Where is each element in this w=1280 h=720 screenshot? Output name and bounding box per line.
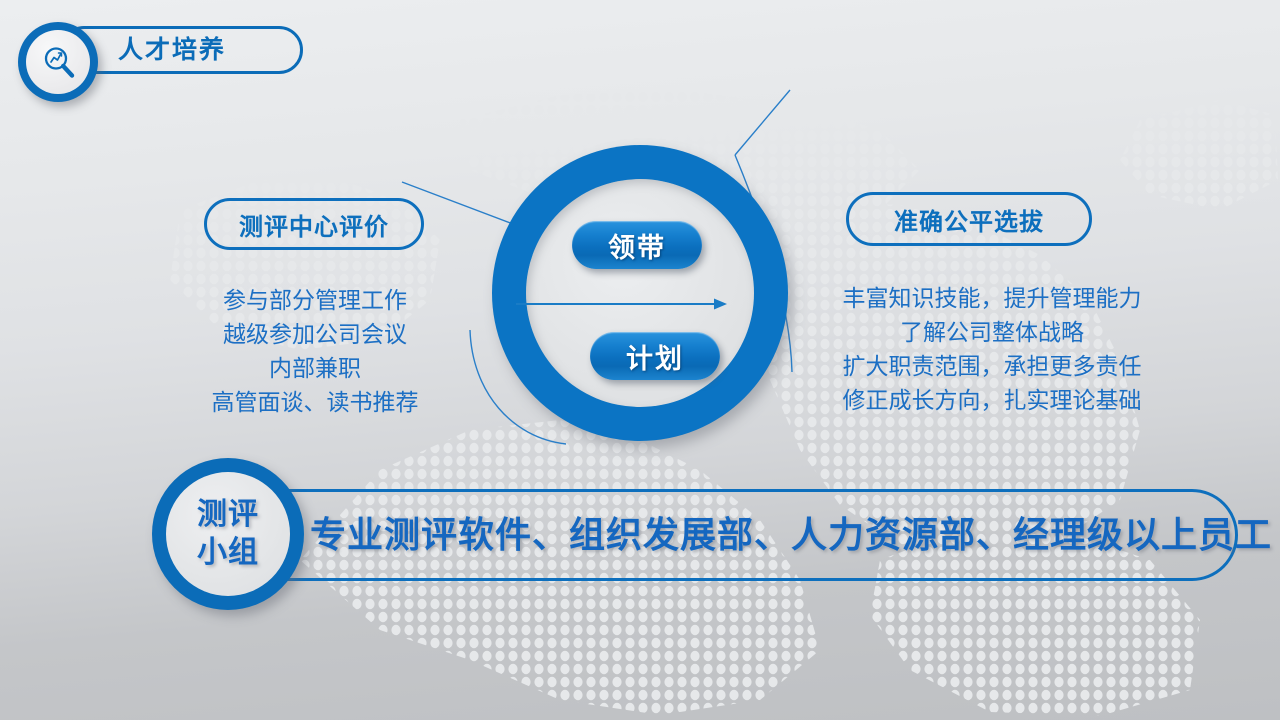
right-arrow-icon	[516, 296, 728, 312]
evaluation-group-line1: 测评	[197, 496, 259, 534]
bottom-bar-text: 专业测评软件、组织发展部、人力资源部、经理级以上员工	[310, 508, 1200, 562]
center-pill-tie[interactable]: 领带	[572, 221, 702, 269]
left-branch-line: 越级参加公司会议	[170, 317, 460, 351]
evaluation-group-circle-inner: 测评 小组	[166, 472, 290, 596]
right-branch-label[interactable]: 准确公平选拔	[846, 192, 1092, 246]
center-pill-plan[interactable]: 计划	[590, 332, 720, 380]
left-branch-line: 高管面谈、读书推荐	[170, 385, 460, 419]
left-branch-text: 参与部分管理工作 越级参加公司会议 内部兼职 高管面谈、读书推荐	[170, 283, 460, 419]
page-title: 人才培养	[118, 36, 298, 64]
header-badge: 人才培养	[18, 22, 303, 78]
header-icon-circle-inner	[26, 30, 90, 94]
right-branch-text: 丰富知识技能，提升管理能力 了解公司整体战略 扩大职责范围，承担更多责任 修正成…	[822, 281, 1162, 417]
right-branch-line: 丰富知识技能，提升管理能力	[822, 281, 1162, 315]
left-branch-line: 参与部分管理工作	[170, 283, 460, 317]
left-branch-label[interactable]: 测评中心评价	[204, 198, 424, 250]
right-branch-line: 扩大职责范围，承担更多责任	[822, 349, 1162, 383]
slide-canvas: 人才培养 领带 计划 测评中心评价 参与部分管理工作 越级参加公司会议 内部兼职…	[0, 0, 1280, 720]
magnifier-chart-icon	[41, 44, 77, 80]
evaluation-group-circle: 测评 小组	[152, 458, 304, 610]
evaluation-group-line2: 小组	[197, 534, 259, 572]
center-ring	[492, 145, 788, 441]
right-branch-line: 了解公司整体战略	[822, 315, 1162, 349]
right-branch-line: 修正成长方向，扎实理论基础	[822, 383, 1162, 417]
left-branch-line: 内部兼职	[170, 351, 460, 385]
header-icon-circle	[18, 22, 98, 102]
